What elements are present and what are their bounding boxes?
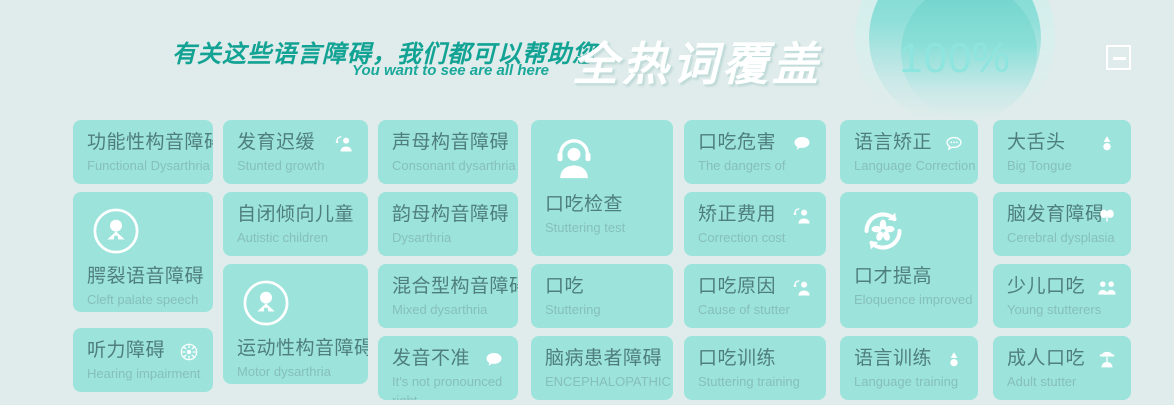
tile-subtitle: Mixed dysarthria xyxy=(392,300,504,319)
keyword-tile[interactable]: 发音不准It's not pronounced right xyxy=(378,336,518,400)
tile-subtitle: Cleft palate speech disorder xyxy=(87,290,199,312)
tile-title: 功能性构音障碍 xyxy=(87,130,199,156)
pin-icon xyxy=(944,350,964,370)
tile-subtitle: Stunted growth xyxy=(237,156,354,175)
keyword-tile[interactable]: 口吃检查Stuttering test xyxy=(531,120,673,256)
tile-title: 口吃 xyxy=(545,274,659,300)
tile-subtitle: Adult stutter xyxy=(1007,372,1117,391)
keyword-tile[interactable]: 脑病患者障碍ENCEPHALOPATHIC xyxy=(531,336,673,400)
keyword-tile[interactable]: 成人口吃Adult stutter xyxy=(993,336,1131,400)
chat-dots-icon xyxy=(944,134,964,154)
refresh-flower-icon xyxy=(860,208,906,254)
tile-subtitle: Dysarthria xyxy=(392,228,504,247)
tile-subtitle: Autistic children xyxy=(237,228,354,247)
tile-title: 口吃检查 xyxy=(545,192,659,218)
tile-subtitle: Hearing impairment xyxy=(87,364,199,383)
keyword-tile[interactable]: 声母构音障碍Consonant dysarthria xyxy=(378,120,518,184)
keyword-tile[interactable]: 语言矫正Language Correction xyxy=(840,120,978,184)
headset-user-icon xyxy=(551,136,597,182)
tile-title: 腭裂语音障碍 xyxy=(87,264,199,290)
headset-person-icon xyxy=(792,278,812,298)
keyword-tile[interactable]: 功能性构音障碍Functional Dysarthria xyxy=(73,120,213,184)
tile-title: 韵母构音障碍 xyxy=(392,202,504,228)
tile-subtitle: Cause of stutter xyxy=(698,300,812,319)
tile-subtitle: The dangers of xyxy=(698,156,812,175)
person-circle-icon xyxy=(93,208,139,254)
keyword-tile[interactable]: 口吃原因Cause of stutter xyxy=(684,264,826,328)
tile-title: 脑病患者障碍 xyxy=(545,346,659,372)
person-circle-icon xyxy=(243,280,289,326)
tile-subtitle: Eloquence improved xyxy=(854,290,964,309)
keyword-tile[interactable]: 矫正费用Correction cost xyxy=(684,192,826,256)
keyword-tile[interactable]: 语言训练Language training xyxy=(840,336,978,400)
tile-subtitle: Cerebral dysplasia xyxy=(1007,228,1117,247)
keyword-tile[interactable]: 听力障碍Hearing impairment xyxy=(73,328,213,392)
tile-subtitle: Correction cost xyxy=(698,228,812,247)
speech-bubble-icon xyxy=(484,350,504,370)
tile-title: 声母构音障碍 xyxy=(392,130,504,156)
tile-title: 运动性构音障碍 xyxy=(237,336,354,362)
keyword-tile[interactable]: 混合型构音障碍Mixed dysarthria xyxy=(378,264,518,328)
tile-subtitle: Motor dysarthria xyxy=(237,362,354,381)
page-header: 100% 有关这些语言障碍，我们都可以帮助您 You want to see a… xyxy=(0,0,1174,112)
keyword-tile[interactable]: 大舌头Big Tongue xyxy=(993,120,1131,184)
tile-title: 自闭倾向儿童 xyxy=(237,202,354,228)
keyword-tile[interactable]: 口才提高Eloquence improved xyxy=(840,192,978,328)
coverage-percent-label: 100% xyxy=(855,34,1055,82)
keyword-tile-grid: 功能性构音障碍Functional Dysarthria腭裂语音障碍Cleft … xyxy=(0,112,1174,405)
speech-bubble-icon xyxy=(792,134,812,154)
keyword-tile[interactable]: 自闭倾向儿童Autistic children xyxy=(223,192,368,256)
headset-person-icon xyxy=(334,134,354,154)
page-root: 100% 有关这些语言障碍，我们都可以帮助您 You want to see a… xyxy=(0,0,1174,405)
adult-icon xyxy=(1097,350,1117,370)
tile-subtitle: It's not pronounced right xyxy=(392,372,504,400)
tile-subtitle: ENCEPHALOPATHIC xyxy=(545,372,659,391)
keyword-tile[interactable]: 腭裂语音障碍Cleft palate speech disorder xyxy=(73,192,213,312)
tile-subtitle: Big Tongue xyxy=(1007,156,1117,175)
minus-icon xyxy=(1113,57,1126,60)
tile-title: 口才提高 xyxy=(854,264,964,290)
tile-subtitle: Consonant dysarthria xyxy=(392,156,504,175)
tile-title: 混合型构音障碍 xyxy=(392,274,504,300)
tile-subtitle: Language Correction xyxy=(854,156,964,175)
keyword-tile[interactable]: 发育迟缓Stunted growth xyxy=(223,120,368,184)
tile-subtitle: Language training xyxy=(854,372,964,391)
tile-subtitle: Stuttering test xyxy=(545,218,659,237)
keyword-tile[interactable]: 运动性构音障碍Motor dysarthria xyxy=(223,264,368,384)
brain-icon xyxy=(1097,206,1117,226)
keyword-tile[interactable]: 脑发育障碍Cerebral dysplasia xyxy=(993,192,1131,256)
collapse-button[interactable] xyxy=(1106,45,1131,70)
tile-subtitle: Stuttering xyxy=(545,300,659,319)
tile-title: 口吃训练 xyxy=(698,346,812,372)
keyword-tile[interactable]: 口吃Stuttering xyxy=(531,264,673,328)
keyword-tile[interactable]: 口吃训练Stuttering training xyxy=(684,336,826,400)
tile-subtitle: Young stutterers xyxy=(1007,300,1117,319)
headset-person-icon xyxy=(792,206,812,226)
page-subtitle: You want to see are all here xyxy=(352,62,549,79)
keyword-tile[interactable]: 韵母构音障碍Dysarthria xyxy=(378,192,518,256)
two-people-icon xyxy=(1097,278,1117,298)
keyword-tile[interactable]: 口吃危害The dangers of xyxy=(684,120,826,184)
ear-wheel-icon xyxy=(179,342,199,362)
tile-subtitle: Functional Dysarthria xyxy=(87,156,199,175)
hero-keyword: 全热词覆盖 xyxy=(572,28,822,94)
pin-icon xyxy=(1097,134,1117,154)
keyword-tile[interactable]: 少儿口吃Young stutterers xyxy=(993,264,1131,328)
tile-subtitle: Stuttering training xyxy=(698,372,812,391)
